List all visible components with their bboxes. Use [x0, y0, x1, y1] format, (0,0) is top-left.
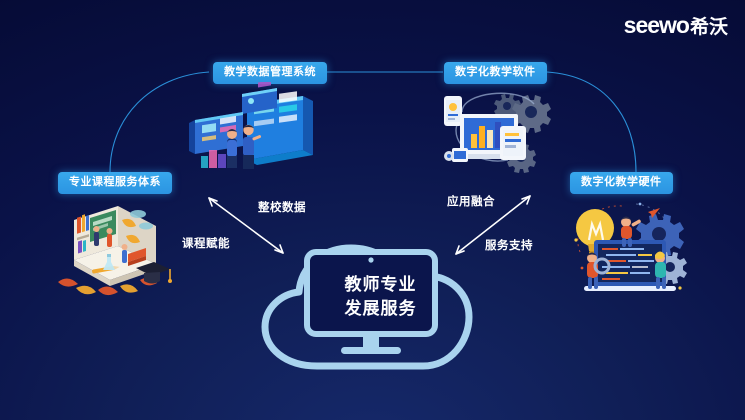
node-label-digital-teaching-hardware[interactable]: 数字化教学硬件: [570, 172, 673, 194]
node-label-digital-teaching-software[interactable]: 数字化教学软件: [444, 62, 547, 84]
center-title-line1: 教师专业: [345, 273, 417, 297]
data-dashboard-screens-illustration: [185, 82, 330, 174]
node-label-teaching-data-management-system[interactable]: 教学数据管理系统: [213, 62, 327, 84]
slide-canvas: seewo 希沃 教学数据管理系统 数字化教学软件 专业课程服务体系 数字化教学…: [0, 0, 745, 420]
center-title-line2: 发展服务: [345, 297, 417, 321]
logo-wordmark: seewo: [624, 14, 689, 37]
laptop-tablet-phone-gears-illustration: [438, 82, 558, 174]
node-label-professional-course-service-system[interactable]: 专业课程服务体系: [58, 172, 172, 194]
lightbulb-laptop-code-gears-illustration: [562, 196, 690, 300]
center-title: 教师专业 发展服务: [313, 258, 448, 336]
classroom-toolbox-illustration: [50, 196, 172, 300]
arrow-label-course-empowerment: 课程赋能: [182, 235, 230, 251]
seewo-logo: seewo 希沃: [624, 14, 728, 37]
arrow-label-whole-school-data: 整校数据: [258, 199, 306, 215]
arrow-label-application-fusion: 应用融合: [447, 193, 495, 209]
logo-chinese-name: 希沃: [690, 18, 728, 37]
center-cloud-monitor: 教师专业 发展服务: [255, 228, 505, 373]
